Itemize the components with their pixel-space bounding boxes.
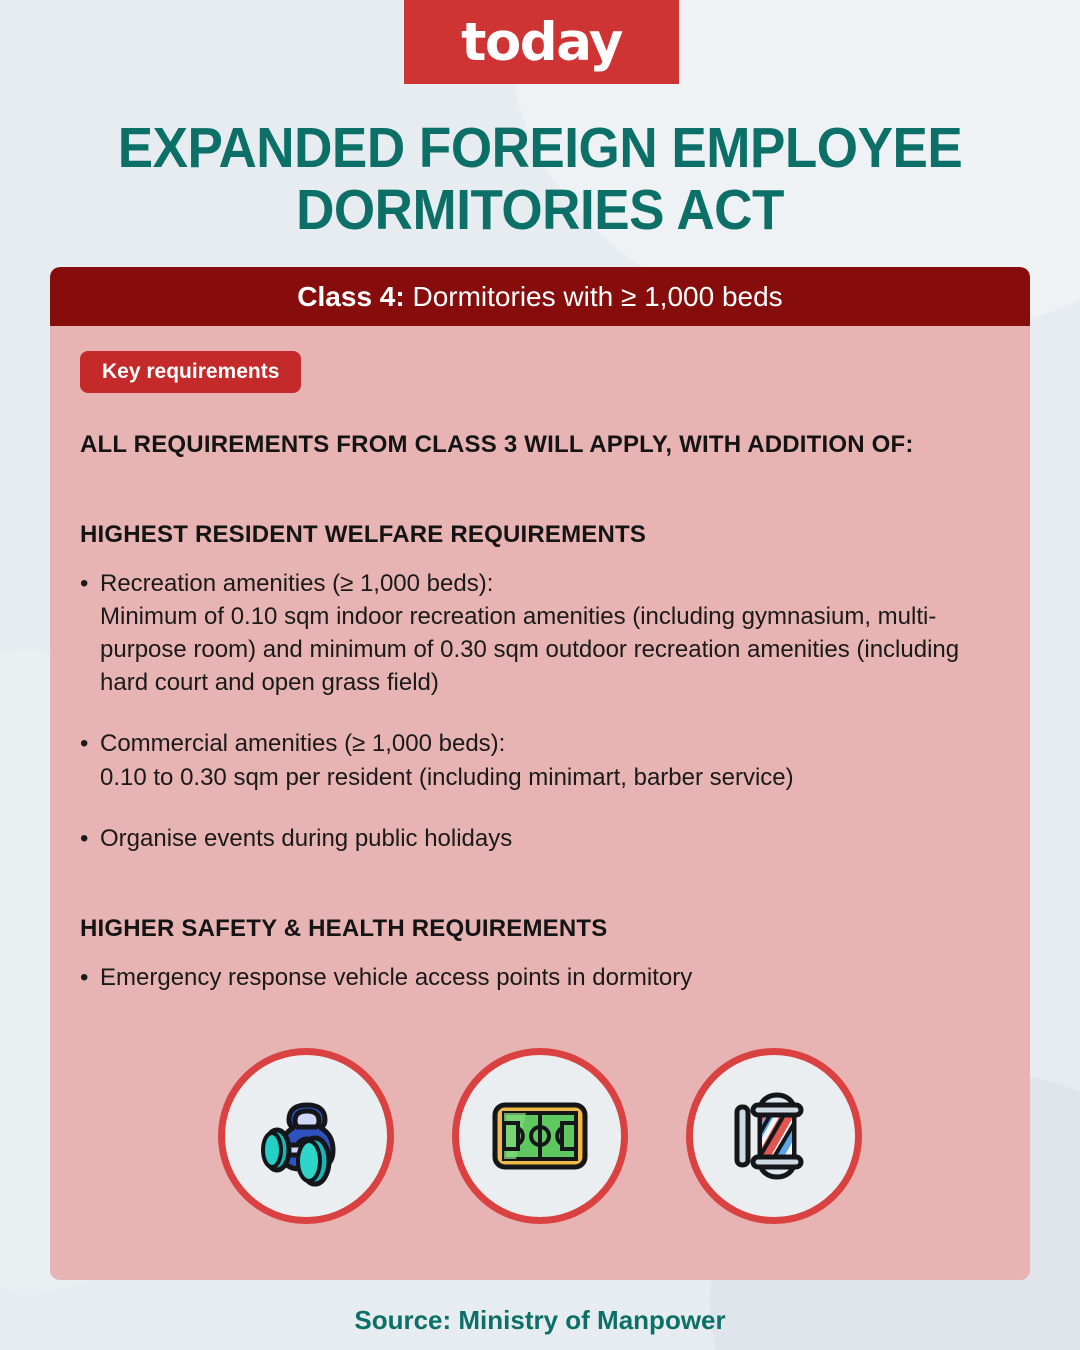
welfare-bullet-list: • Recreation amenities (≥ 1,000 beds): M… <box>80 567 1000 855</box>
sports-field-glyph <box>481 1077 599 1195</box>
list-item: • Recreation amenities (≥ 1,000 beds): M… <box>80 567 1000 699</box>
today-logo-text: today <box>461 16 622 69</box>
list-item: • Emergency response vehicle access poin… <box>80 961 1000 994</box>
bullet-dot-icon: • <box>80 727 100 793</box>
bullet-main: Recreation amenities (≥ 1,000 beds): <box>100 570 493 597</box>
bullet-dot-icon: • <box>80 567 100 699</box>
barber-pole-icon <box>686 1048 862 1224</box>
gym-equipment-glyph <box>247 1077 365 1195</box>
infographic-page: today EXPANDED FOREIGN EMPLOYEE DORMITOR… <box>0 0 1080 1350</box>
bullet-dot-icon: • <box>80 961 100 994</box>
card-body: Key requirements ALL REQUIREMENTS FROM C… <box>50 326 1030 994</box>
bullet-text: Recreation amenities (≥ 1,000 beds): Min… <box>100 567 1000 699</box>
safety-bullet-list: • Emergency response vehicle access poin… <box>80 961 1000 994</box>
sports-field-icon <box>452 1048 628 1224</box>
barber-pole-glyph <box>715 1077 833 1195</box>
gym-equipment-icon <box>218 1048 394 1224</box>
today-logo: today <box>404 0 679 84</box>
section-heading-welfare: HIGHEST RESIDENT WELFARE REQUIREMENTS <box>80 521 1000 549</box>
section-heading-safety: HIGHER SAFETY & HEALTH REQUIREMENTS <box>80 915 1000 943</box>
bullet-text: Commercial amenities (≥ 1,000 beds): 0.1… <box>100 727 1000 793</box>
key-requirements-badge: Key requirements <box>80 351 301 393</box>
bullet-sub: Minimum of 0.10 sqm indoor recreation am… <box>100 600 1000 699</box>
intro-heading: ALL REQUIREMENTS FROM CLASS 3 WILL APPLY… <box>80 431 1000 459</box>
bullet-main: Organise events during public holidays <box>100 825 512 852</box>
bullet-dot-icon: • <box>80 822 100 855</box>
bullet-main: Emergency response vehicle access points… <box>100 964 692 991</box>
list-item: • Commercial amenities (≥ 1,000 beds): 0… <box>80 727 1000 793</box>
bullet-text: Organise events during public holidays <box>100 822 1000 855</box>
card-header-text: Class 4: Dormitories with ≥ 1,000 beds <box>297 283 782 311</box>
bullet-text: Emergency response vehicle access points… <box>100 961 1000 994</box>
list-item: • Organise events during public holidays <box>80 822 1000 855</box>
page-title: EXPANDED FOREIGN EMPLOYEE DORMITORIES AC… <box>84 118 995 241</box>
card-header-class-label: Class 4: <box>297 281 404 312</box>
bullet-sub: 0.10 to 0.30 sqm per resident (including… <box>100 761 1000 794</box>
card-header-description: Dormitories with ≥ 1,000 beds <box>405 281 783 312</box>
bullet-main: Commercial amenities (≥ 1,000 beds): <box>100 730 505 757</box>
icon-row <box>50 1048 1030 1224</box>
card-header-bar: Class 4: Dormitories with ≥ 1,000 beds <box>50 267 1030 326</box>
source-credit: Source: Ministry of Manpower <box>0 1305 1080 1336</box>
requirements-card: Class 4: Dormitories with ≥ 1,000 beds K… <box>50 267 1030 1280</box>
